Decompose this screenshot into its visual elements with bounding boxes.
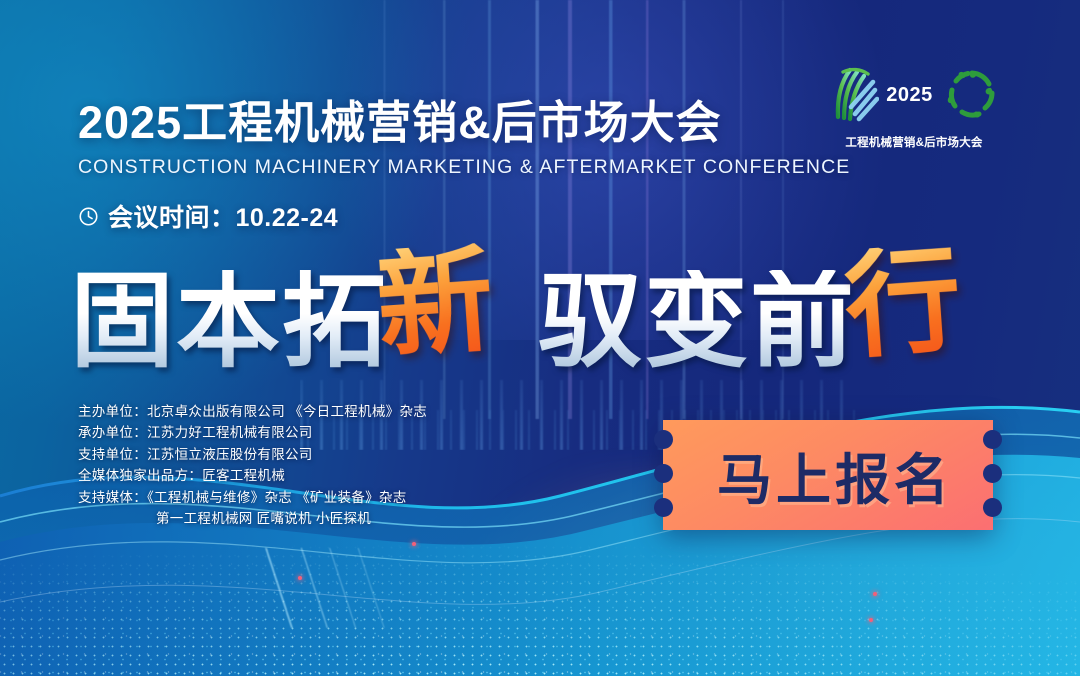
register-now-label: 马上报名 [663, 420, 993, 530]
ribbon-fan-icon [831, 62, 879, 129]
credit-line: 主办单位：北京卓众出版有限公司 《今日工程机械》杂志 [78, 401, 427, 422]
credit-line: 全媒体独家出品方：匠客工程机械 [78, 465, 427, 486]
page-subtitle: CONSTRUCTION MACHINERY MARKETING & AFTER… [78, 156, 850, 179]
slogan: 固本拓 新 驭变前 行 [70, 258, 960, 374]
slogan-part2-brush: 行 [841, 242, 967, 366]
slogan-part1-plain: 固本拓 [70, 270, 388, 374]
accent-dot [869, 618, 873, 622]
conference-date: 会议时间：10.22-24 [108, 198, 338, 234]
credits-block: 主办单位：北京卓众出版有限公司 《今日工程机械》杂志 承办单位：江苏力好工程机械… [78, 401, 427, 529]
header-block: 2025工程机械营销&后市场大会 CONSTRUCTION MACHINERY … [78, 100, 850, 234]
slogan-part1-brush: 新 [373, 242, 499, 366]
clock-icon [78, 206, 99, 227]
light-rays [120, 548, 450, 628]
page-title: 2025工程机械营销&后市场大会 [78, 100, 850, 145]
conference-date-row: 会议时间：10.22-24 [78, 198, 850, 234]
credit-line: 支持媒体：《工程机械与维修》杂志 《矿业装备》杂志 [78, 487, 427, 508]
logo-caption: 工程机械营销&后市场大会 [836, 134, 992, 150]
slogan-part2-plain: 驭变前 [538, 270, 856, 374]
credit-line: 承办单位：江苏力好工程机械有限公司 [78, 422, 427, 443]
credit-line: 支持单位：江苏恒立液压股份有限公司 [78, 444, 427, 465]
credit-line: 第一工程机械网 匠嘴说机 小匠探机 [78, 508, 427, 529]
conference-logo: 2025 [836, 58, 992, 158]
green-wreath-icon [947, 68, 997, 123]
conference-banner: 2025工程机械营销&后市场大会 CONSTRUCTION MACHINERY … [0, 0, 1080, 676]
logo-year: 2025 [886, 84, 933, 107]
register-now-button[interactable]: 马上报名 [663, 420, 993, 530]
accent-dot [873, 592, 877, 596]
accent-dot [298, 576, 302, 580]
accent-dot [412, 542, 416, 546]
logo-marks-row: 2025 [836, 58, 992, 132]
